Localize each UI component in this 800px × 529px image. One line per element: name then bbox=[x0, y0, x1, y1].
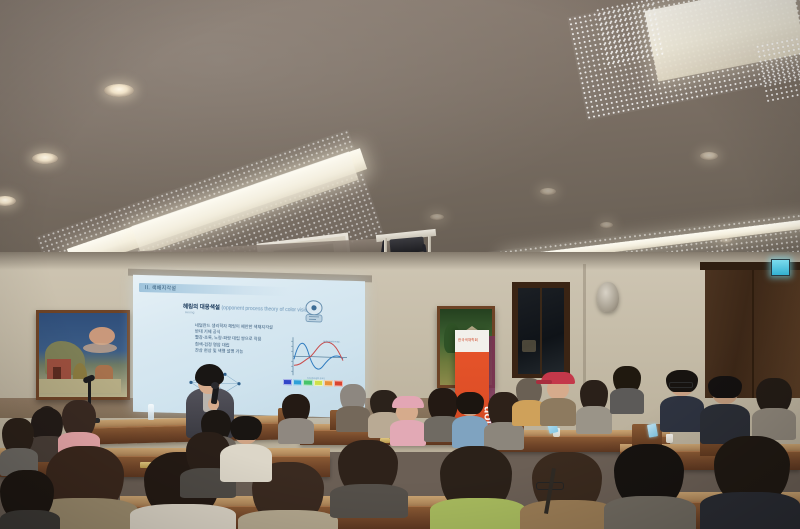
downlight-4 bbox=[700, 152, 718, 160]
audience-member bbox=[336, 384, 370, 428]
downlight-2 bbox=[32, 153, 58, 164]
svg-text:opponent resp.: opponent resp. bbox=[323, 339, 341, 343]
projection-screen: II. 색채지각설 헤링의 대응색설 (opponent process the… bbox=[133, 275, 365, 418]
downlight-5 bbox=[540, 188, 556, 195]
downlight-1 bbox=[104, 84, 134, 97]
banner-logo-text: 한국색채학회 bbox=[458, 337, 478, 342]
spectrum-swatch bbox=[324, 380, 333, 386]
downlight-7 bbox=[600, 222, 613, 228]
fresco-painting-left bbox=[36, 310, 130, 400]
window-mullion bbox=[540, 288, 542, 374]
audience-member bbox=[660, 372, 704, 428]
wall-shadow-band bbox=[0, 252, 800, 270]
audience-member bbox=[58, 400, 100, 452]
wall-speaker bbox=[597, 282, 619, 312]
eye-diagram-icon bbox=[301, 299, 327, 324]
color-spectrum-bar bbox=[283, 379, 343, 387]
slide-title-en: (opponent process theory of color vision… bbox=[221, 305, 311, 314]
audience-member-red-cap bbox=[540, 372, 576, 420]
presenter-hair bbox=[195, 364, 224, 386]
downlight-6 bbox=[430, 214, 444, 220]
lecture-hall-photo: II. 색채지각설 헤링의 대응색설 (opponent process the… bbox=[0, 0, 800, 529]
audience-member bbox=[0, 470, 60, 529]
slide-bullet-list: 네덜란드 생리학자 헤링이 제안한 색채지각설 반대 기제 공식 빨강-초록, … bbox=[195, 322, 273, 355]
audience-member bbox=[330, 440, 408, 512]
banner-header: 한국색채학회 bbox=[455, 330, 489, 352]
audience-member-with-cap bbox=[390, 396, 426, 442]
spectrum-swatch bbox=[293, 379, 302, 385]
downlight-8 bbox=[720, 238, 732, 243]
audience-member bbox=[700, 378, 750, 440]
ceiling-perforated-edge-right bbox=[595, 0, 665, 67]
paper-cup bbox=[666, 434, 673, 443]
audience-member bbox=[520, 452, 616, 529]
spectrum-swatch bbox=[314, 380, 323, 386]
audience-member bbox=[576, 380, 612, 428]
audience-member bbox=[752, 378, 796, 436]
audience-member bbox=[610, 366, 644, 410]
opponent-process-chart: opponent resp. wavelength (nm) bbox=[283, 335, 349, 381]
audience-member bbox=[452, 394, 488, 444]
audience-member bbox=[604, 444, 696, 529]
wall-trim-vertical bbox=[583, 264, 586, 384]
slide-bullet: 잔상 현상 및 색맹 설명 가능 bbox=[195, 347, 273, 355]
window-reflection bbox=[522, 340, 536, 352]
slide-subtitle: Hering bbox=[185, 310, 194, 314]
spectrum-swatch bbox=[303, 380, 312, 386]
eyeglasses bbox=[669, 382, 693, 388]
fresco-cloud bbox=[83, 343, 117, 353]
audience-member bbox=[700, 436, 800, 529]
spectrum-swatch bbox=[283, 379, 292, 385]
slide-title: 헤링의 대응색설 (opponent process theory of col… bbox=[183, 302, 312, 314]
microphone-capsule bbox=[211, 382, 219, 389]
pink-cap bbox=[392, 396, 424, 408]
exit-sign bbox=[771, 259, 790, 276]
fresco-ground bbox=[39, 379, 121, 393]
slide-section-label: II. 색채지각설 bbox=[145, 284, 176, 292]
audience-member bbox=[278, 394, 314, 438]
audience-member bbox=[430, 446, 526, 529]
cap-brim bbox=[536, 380, 552, 384]
water-bottle bbox=[148, 404, 154, 420]
audience-member bbox=[220, 418, 272, 478]
